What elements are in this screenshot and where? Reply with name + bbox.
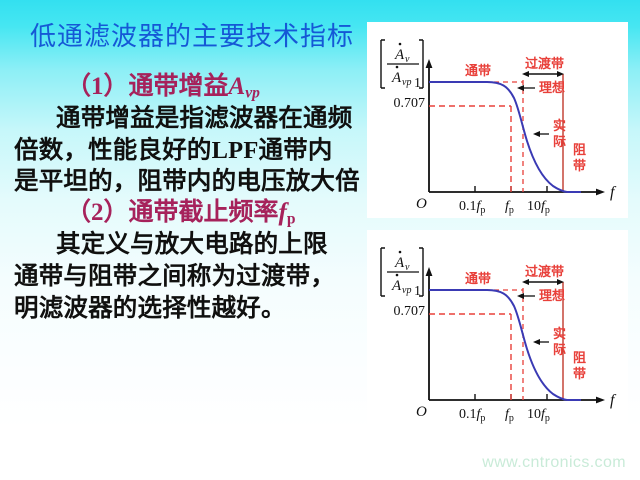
ylabel-numerator-sub-v: v: [405, 54, 410, 65]
label-stopband-line2: 带: [573, 366, 586, 381]
heading-passband-gain-label: （1）通带增益: [66, 73, 229, 100]
symbol-fp-sub: p: [287, 211, 296, 228]
ylabel-denominator-dot: [396, 274, 399, 277]
ideal-pointer-arrow: [517, 85, 535, 91]
filter-response-chart-bottom: A v A vp f O 1 0.707: [367, 230, 628, 426]
x-tick-10fp: 10fp: [527, 407, 550, 424]
actual-response-curve: [429, 290, 567, 400]
y-tick-1: 1: [414, 284, 421, 299]
y-axis-arrow: [426, 59, 433, 68]
symbol-Avp-main: A: [229, 73, 246, 100]
x-tick-10fp: 10fp: [527, 199, 550, 216]
x-axis-arrow: [596, 189, 605, 196]
actual-pointer-arrow: [533, 131, 549, 137]
origin-label: O: [416, 404, 427, 420]
paragraph2-line3: 明滤波器的选择性越好。: [14, 293, 386, 325]
ylabel-denominator-dot: [396, 66, 399, 69]
slide-body-text: （1）通带增益Avp 通带增益是指滤波器在通频 倍数，性能良好的LPF通带内 是…: [14, 72, 386, 324]
paragraph1-line1: 通带增益是指滤波器在通频: [14, 103, 386, 135]
x-axis-arrow: [596, 397, 605, 404]
paragraph2-line1: 其定义与放大电路的上限: [14, 229, 386, 261]
chart-svg-bottom: A v A vp f O 1 0.707: [367, 230, 628, 426]
chart-guides: [429, 290, 523, 400]
ylabel-denominator-sub-vp: vp: [402, 285, 411, 296]
heading-cutoff-frequency: （2）通带截止频率fp: [14, 198, 386, 229]
label-transition-band: 过渡带: [525, 264, 564, 279]
transition-band-arrow: [522, 71, 564, 77]
x-tick-fp: fp: [505, 407, 514, 424]
chart-axes: f: [426, 267, 617, 409]
x-tick-labels: 0.1fp fp 10fp: [459, 407, 550, 424]
ylabel-numerator-sub-v: v: [405, 262, 410, 273]
ylabel-denominator-A: A: [391, 70, 402, 86]
symbol-fp-main: f: [279, 199, 287, 226]
paragraph1-line2-latin: LPF: [212, 137, 259, 164]
label-actual-line2: 际: [553, 342, 566, 357]
y-tick-0707: 0.707: [394, 96, 426, 111]
ylabel-denominator-sub-vp: vp: [402, 77, 411, 88]
actual-response-curve: [429, 82, 567, 192]
paragraph1-line3: 是平坦的，阻带内的电压放大倍: [14, 166, 386, 198]
label-stopband-line1: 阻: [573, 142, 586, 157]
paragraph2-line2: 通带与阻带之间称为过渡带，: [14, 261, 386, 293]
symbol-Avp-sub: vp: [245, 84, 260, 101]
xlabel-f: f: [610, 184, 617, 201]
heading-passband-gain: （1）通带增益Avp: [14, 72, 386, 103]
actual-pointer-arrow: [533, 339, 549, 345]
y-tick-1: 1: [414, 76, 421, 91]
label-transition-band: 过渡带: [525, 56, 564, 71]
label-actual-line1: 实: [553, 326, 566, 341]
paragraph1-line2: 倍数，性能良好的LPF通带内: [14, 135, 386, 167]
chart-guides: [429, 82, 523, 192]
ylabel-denominator-A: A: [391, 278, 402, 294]
label-actual-line2: 际: [553, 134, 566, 149]
paragraph1-line2-tail: 通带内: [258, 137, 332, 164]
ylabel-numerator-A: A: [394, 255, 405, 271]
heading-cutoff-frequency-label: （2）通带截止频率: [66, 199, 279, 226]
x-tick-0p1fp: 0.1fp: [459, 407, 485, 424]
label-ideal: 理想: [539, 80, 565, 95]
label-ideal: 理想: [539, 288, 565, 303]
label-passband: 通带: [465, 271, 491, 286]
xlabel-f: f: [610, 392, 617, 409]
x-tick-0p1fp: 0.1fp: [459, 199, 485, 216]
x-tick-fp: fp: [505, 199, 514, 216]
chart-svg-top: A v A vp f O 1 0.707: [367, 22, 628, 218]
chart-axes: f: [426, 59, 617, 201]
filter-response-chart-top: A v A vp f O 1 0.707: [367, 22, 628, 218]
y-tick-0707: 0.707: [394, 304, 426, 319]
ylabel-numerator-A: A: [394, 47, 405, 63]
slide-canvas: 低通滤波器的主要技术指标 （1）通带增益Avp 通带增益是指滤波器在通频 倍数，…: [0, 0, 640, 480]
origin-label: O: [416, 196, 427, 212]
transition-band-arrow: [522, 279, 564, 285]
ylabel-numerator-dot: [399, 251, 402, 254]
paragraph1-line2-head: 倍数，性能良好的: [14, 137, 212, 164]
label-stopband-line1: 阻: [573, 350, 586, 365]
ideal-pointer-arrow: [517, 293, 535, 299]
label-actual-line1: 实: [553, 118, 566, 133]
y-axis-arrow: [426, 267, 433, 276]
x-tick-labels: 0.1fp fp 10fp: [459, 199, 550, 216]
ylabel-numerator-dot: [399, 43, 402, 46]
label-passband: 通带: [465, 63, 491, 78]
page-title: 低通滤波器的主要技术指标: [30, 16, 354, 53]
site-watermark: www.cntronics.com: [482, 454, 626, 472]
label-stopband-line2: 带: [573, 158, 586, 173]
